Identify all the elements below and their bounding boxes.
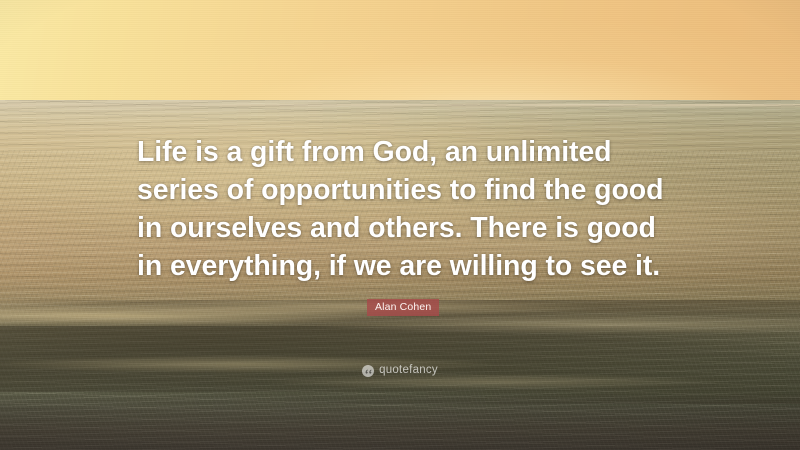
quote-line-3: in ourselves and others. There is good bbox=[137, 209, 683, 247]
quote-line-4: in everything, if we are willing to see … bbox=[137, 247, 683, 285]
quote-poster: Life is a gift from God, an unlimited se… bbox=[0, 0, 800, 450]
author-badge: Alan Cohen bbox=[367, 299, 439, 316]
quote-mark-circle-icon bbox=[362, 365, 374, 377]
quote-line-1: Life is a gift from God, an unlimited bbox=[137, 133, 683, 171]
quote-text-block: Life is a gift from God, an unlimited se… bbox=[137, 133, 683, 285]
author-name: Alan Cohen bbox=[375, 302, 431, 313]
quote-line-2: series of opportunities to find the good bbox=[137, 171, 683, 209]
quotefancy-brand-text: quotefancy bbox=[379, 365, 438, 377]
quotefancy-watermark: quotefancy bbox=[0, 365, 800, 377]
